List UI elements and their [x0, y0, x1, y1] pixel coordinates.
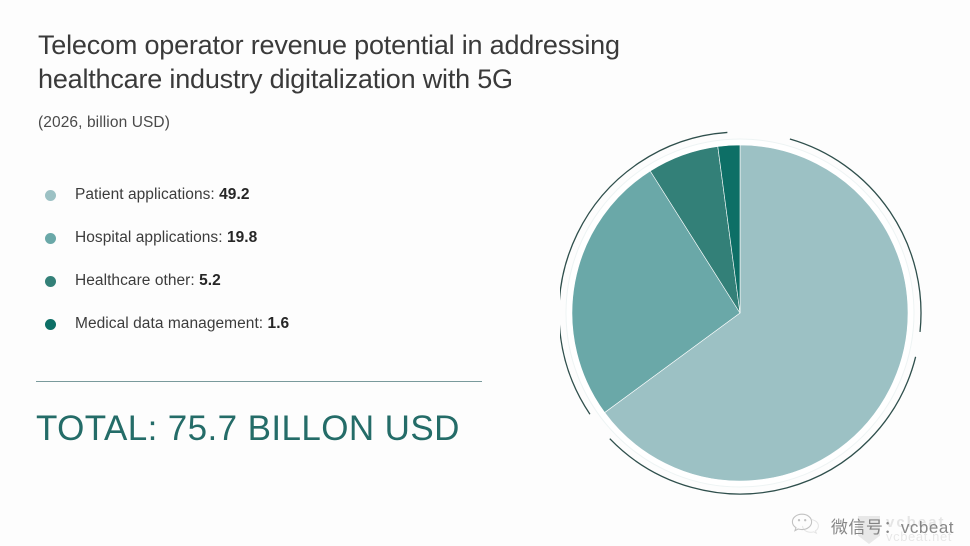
- chart-text-panel: Telecom operator revenue potential in ad…: [38, 28, 598, 350]
- pie-chart: [560, 122, 950, 512]
- legend-item-healthcare-other: Healthcare other: 5.2: [38, 264, 598, 298]
- watermark: 微信号：vcbeat: [790, 511, 954, 540]
- legend-bullet-icon: [45, 319, 56, 330]
- legend-item-label: Healthcare other: 5.2: [75, 272, 221, 290]
- chart-subtitle: (2026, billion USD): [38, 114, 598, 132]
- legend-bullet-icon: [45, 190, 56, 201]
- legend-bullet-icon: [45, 233, 56, 244]
- legend-item-hospital-applications: Hospital applications: 19.8: [38, 221, 598, 255]
- legend-item-medical-data-management: Medical data management: 1.6: [38, 307, 598, 341]
- legend-value: 5.2: [199, 272, 221, 289]
- legend-label-text: Medical data management:: [75, 315, 263, 332]
- legend-item-label: Medical data management: 1.6: [75, 315, 289, 333]
- watermark-text: 微信号：vcbeat: [831, 513, 954, 538]
- section-divider: [36, 381, 482, 382]
- legend-value: 49.2: [219, 186, 249, 203]
- legend-bullet-icon: [45, 276, 56, 287]
- legend-item-label: Hospital applications: 19.8: [75, 229, 257, 247]
- wechat-icon: [790, 511, 824, 540]
- legend-item-patient-applications: Patient applications: 49.2: [38, 178, 598, 212]
- legend-value: 19.8: [227, 229, 257, 246]
- page-title: Telecom operator revenue potential in ad…: [38, 28, 728, 96]
- legend-label-text: Healthcare other:: [75, 272, 195, 289]
- total-value-text: TOTAL: 75.7 BILLON USD: [36, 409, 460, 449]
- chart-legend: Patient applications: 49.2 Hospital appl…: [38, 178, 598, 341]
- pie-chart-svg: [560, 122, 950, 512]
- legend-value: 1.6: [268, 315, 290, 332]
- legend-label-text: Hospital applications:: [75, 229, 223, 246]
- legend-label-text: Patient applications:: [75, 186, 215, 203]
- legend-item-label: Patient applications: 49.2: [75, 186, 250, 204]
- pie-slices-group: [572, 145, 908, 481]
